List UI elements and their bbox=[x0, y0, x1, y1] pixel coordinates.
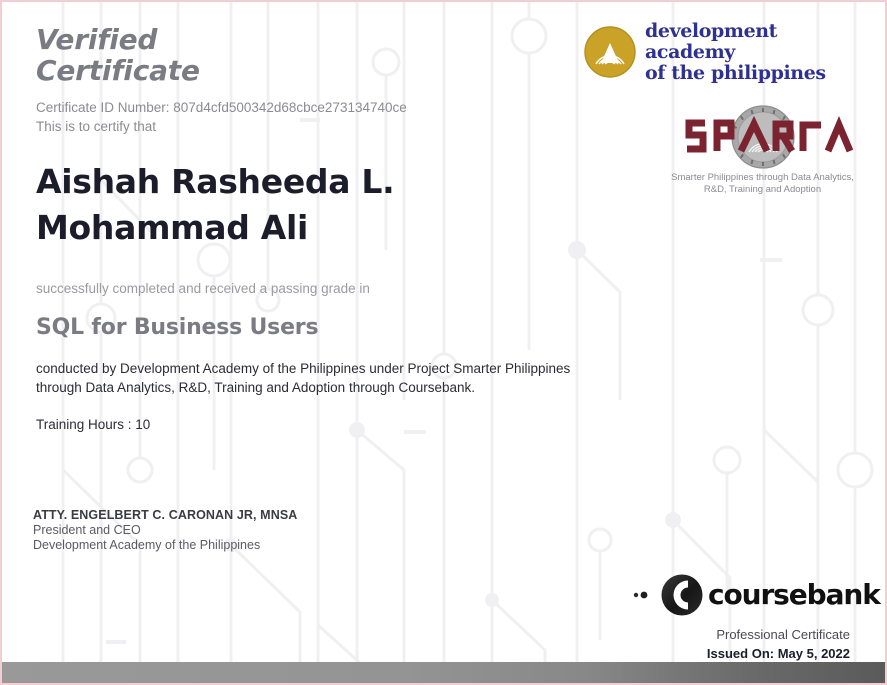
sparta-tagline-line-2: R&D, Training and Adoption bbox=[655, 184, 870, 196]
bottom-gradient-bar bbox=[2, 662, 885, 683]
dap-wordmark-line-1: development academy bbox=[645, 21, 860, 63]
signatory-block: ATTY. ENGELBERT C. CARONAN JR, MNSA Pres… bbox=[33, 508, 297, 553]
page-title: Verified Certificate bbox=[36, 24, 596, 86]
dap-wordmark: development academy of the philippines bbox=[645, 21, 860, 84]
certify-line: This is to certify that bbox=[36, 117, 596, 136]
development-academy-of-the-philippines-logo: development academy of the philippines bbox=[584, 24, 860, 80]
course-title: SQL for Business Users bbox=[36, 315, 596, 341]
dap-emblem-icon bbox=[584, 26, 636, 78]
training-hours: Training Hours : 10 bbox=[36, 416, 596, 434]
certificate-meta: Certificate ID Number: 807d4cfd500342d68… bbox=[36, 98, 596, 136]
recipient-name: Aishah Rasheeda L. Mohammad Ali bbox=[36, 159, 546, 251]
title-line-certificate: Certificate bbox=[36, 55, 596, 86]
sparta-logo: Smarter Philippines through Data Analyti… bbox=[655, 104, 870, 204]
certificate-type-label: Professional Certificate bbox=[707, 626, 850, 644]
signatory-name: ATTY. ENGELBERT C. CARONAN JR, MNSA bbox=[33, 508, 297, 523]
coursebank-wordmark: coursebank bbox=[708, 580, 880, 610]
passing-grade-line: successfully completed and received a pa… bbox=[36, 280, 596, 298]
sparta-mark-icon bbox=[663, 104, 863, 170]
issued-on-date: Issued On: May 5, 2022 bbox=[707, 644, 850, 663]
certificate-main-content: Verified Certificate Certificate ID Numb… bbox=[36, 24, 596, 434]
sparta-tagline-line-1: Smarter Philippines through Data Analyti… bbox=[655, 172, 870, 184]
certificate-id-line: Certificate ID Number: 807d4cfd500342d68… bbox=[36, 98, 596, 117]
verified-certificate: Verified Certificate Certificate ID Numb… bbox=[0, 0, 887, 685]
signatory-role: President and CEO bbox=[33, 523, 297, 538]
signatory-organization: Development Academy of the Philippines bbox=[33, 538, 297, 553]
coursebank-logo: coursebank bbox=[630, 573, 854, 617]
dap-wordmark-line-2: of the philippines bbox=[645, 63, 860, 84]
conducted-by-text: conducted by Development Academy of the … bbox=[36, 359, 571, 397]
certificate-footer: Professional Certificate Issued On: May … bbox=[707, 626, 850, 663]
title-line-verified: Verified bbox=[36, 24, 596, 55]
coursebank-c-mark-icon bbox=[630, 574, 706, 616]
sparta-tagline: Smarter Philippines through Data Analyti… bbox=[655, 172, 870, 196]
